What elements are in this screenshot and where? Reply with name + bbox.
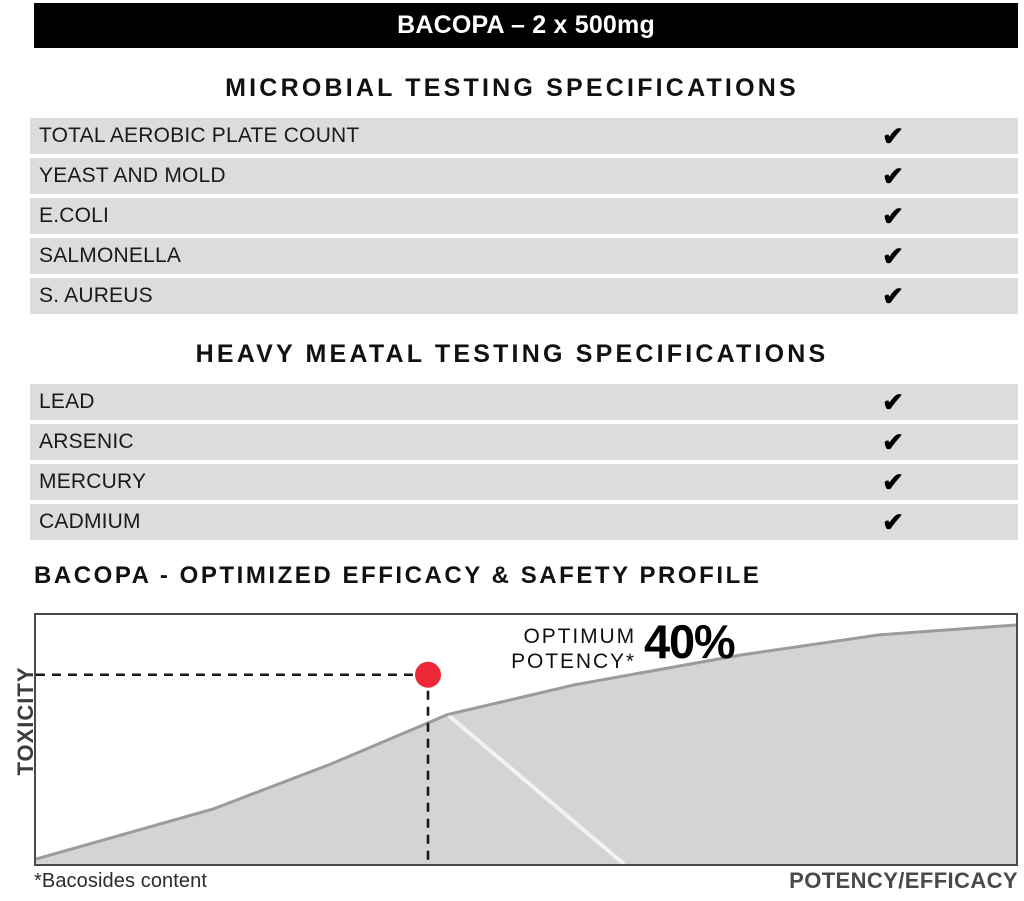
table-row: CADMIUM ✔: [30, 504, 1018, 540]
check-icon: ✔: [873, 429, 913, 455]
table-row: YEAST AND MOLD ✔: [30, 158, 1018, 194]
product-banner: BACOPA – 2 x 500mg: [34, 3, 1018, 48]
microbial-section-heading: MICROBIAL TESTING SPECIFICATIONS: [0, 74, 1024, 103]
product-title: BACOPA – 2 x 500mg: [397, 11, 655, 40]
microbial-spec-table: TOTAL AEROBIC PLATE COUNT ✔ YEAST AND MO…: [30, 118, 1018, 318]
spec-label: E.COLI: [30, 204, 109, 228]
spec-label: LEAD: [30, 390, 95, 414]
check-icon: ✔: [873, 163, 913, 189]
optimum-label-line1: OPTIMUM: [356, 624, 636, 649]
chart-plot-area: OPTIMUM POTENCY* 40%: [34, 613, 1018, 866]
spec-label: S. AUREUS: [30, 284, 153, 308]
check-icon: ✔: [873, 203, 913, 229]
optimum-label-line2: POTENCY*: [356, 649, 636, 674]
x-axis-label: POTENCY/EFFICACY: [789, 868, 1018, 894]
check-icon: ✔: [873, 389, 913, 415]
check-icon: ✔: [873, 243, 913, 269]
table-row: MERCURY ✔: [30, 464, 1018, 500]
spec-label: MERCURY: [30, 470, 146, 494]
efficacy-safety-chart: TOXICITY POTENCY/EFFICACY *Bacosides con…: [0, 600, 1024, 901]
table-row: TOTAL AEROBIC PLATE COUNT ✔: [30, 118, 1018, 154]
chart-section-heading: BACOPA - OPTIMIZED EFFICACY & SAFETY PRO…: [34, 562, 1018, 590]
table-row: SALMONELLA ✔: [30, 238, 1018, 274]
check-icon: ✔: [873, 283, 913, 309]
table-row: LEAD ✔: [30, 384, 1018, 420]
check-icon: ✔: [873, 123, 913, 149]
spec-label: ARSENIC: [30, 430, 134, 454]
chart-footnote: *Bacosides content: [34, 870, 207, 893]
heavy-metal-section-heading: HEAVY MEATAL TESTING SPECIFICATIONS: [0, 340, 1024, 369]
check-icon: ✔: [873, 509, 913, 535]
table-row: E.COLI ✔: [30, 198, 1018, 234]
heavy-metal-spec-table: LEAD ✔ ARSENIC ✔ MERCURY ✔ CADMIUM ✔: [30, 384, 1018, 544]
spec-label: CADMIUM: [30, 510, 141, 534]
optimum-potency-value: 40%: [644, 618, 734, 665]
table-row: S. AUREUS ✔: [30, 278, 1018, 314]
spec-label: YEAST AND MOLD: [30, 164, 226, 188]
table-row: ARSENIC ✔: [30, 424, 1018, 460]
check-icon: ✔: [873, 469, 913, 495]
spec-label: SALMONELLA: [30, 244, 181, 268]
spec-label: TOTAL AEROBIC PLATE COUNT: [30, 124, 359, 148]
